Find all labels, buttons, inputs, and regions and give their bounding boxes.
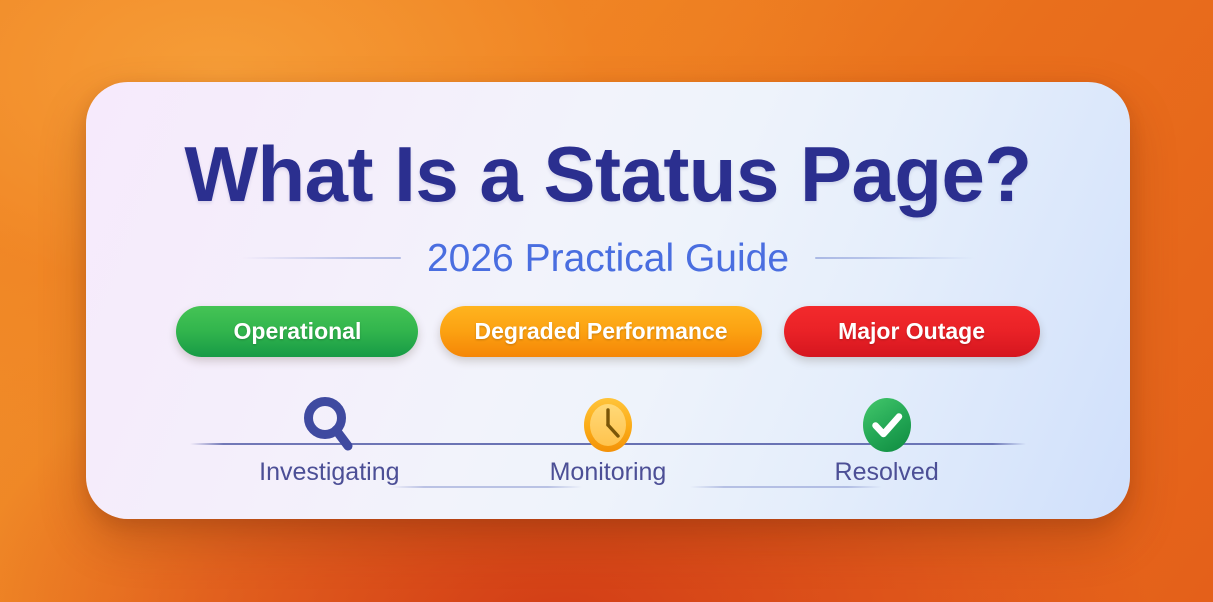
subtitle-rule-left (241, 257, 401, 259)
page-subtitle: 2026 Practical Guide (427, 239, 789, 278)
timeline-step-monitoring[interactable]: Monitoring (503, 392, 713, 485)
timeline-step-icon-wrap (292, 392, 366, 458)
timeline-step-icon-wrap (573, 392, 643, 458)
timeline-step-label-resolved: Resolved (835, 460, 939, 485)
check-circle-icon (852, 397, 922, 453)
timeline-step-icon-wrap (852, 392, 922, 458)
status-pill-major-outage[interactable]: Major Outage (784, 306, 1040, 357)
status-pill-operational[interactable]: Operational (176, 306, 418, 357)
status-pill-degraded-performance[interactable]: Degraded Performance (440, 306, 761, 357)
clock-icon (573, 397, 643, 453)
status-pill-group: Operational Degraded Performance Major O… (86, 306, 1130, 357)
magnifying-glass-icon (292, 394, 366, 456)
incident-timeline: Investigating (190, 392, 1026, 502)
timeline-step-resolved[interactable]: Resolved (782, 392, 992, 485)
subtitle-rule-right (815, 257, 975, 259)
timeline-steps: Investigating (190, 392, 1026, 502)
hero-card: What Is a Status Page? 2026 Practical Gu… (86, 82, 1130, 519)
timeline-step-label-investigating: Investigating (259, 460, 399, 485)
timeline-step-label-monitoring: Monitoring (550, 460, 667, 485)
subtitle-row: 2026 Practical Guide (86, 230, 1130, 286)
timeline-step-investigating[interactable]: Investigating (224, 392, 434, 485)
page-title: What Is a Status Page? (86, 132, 1130, 216)
